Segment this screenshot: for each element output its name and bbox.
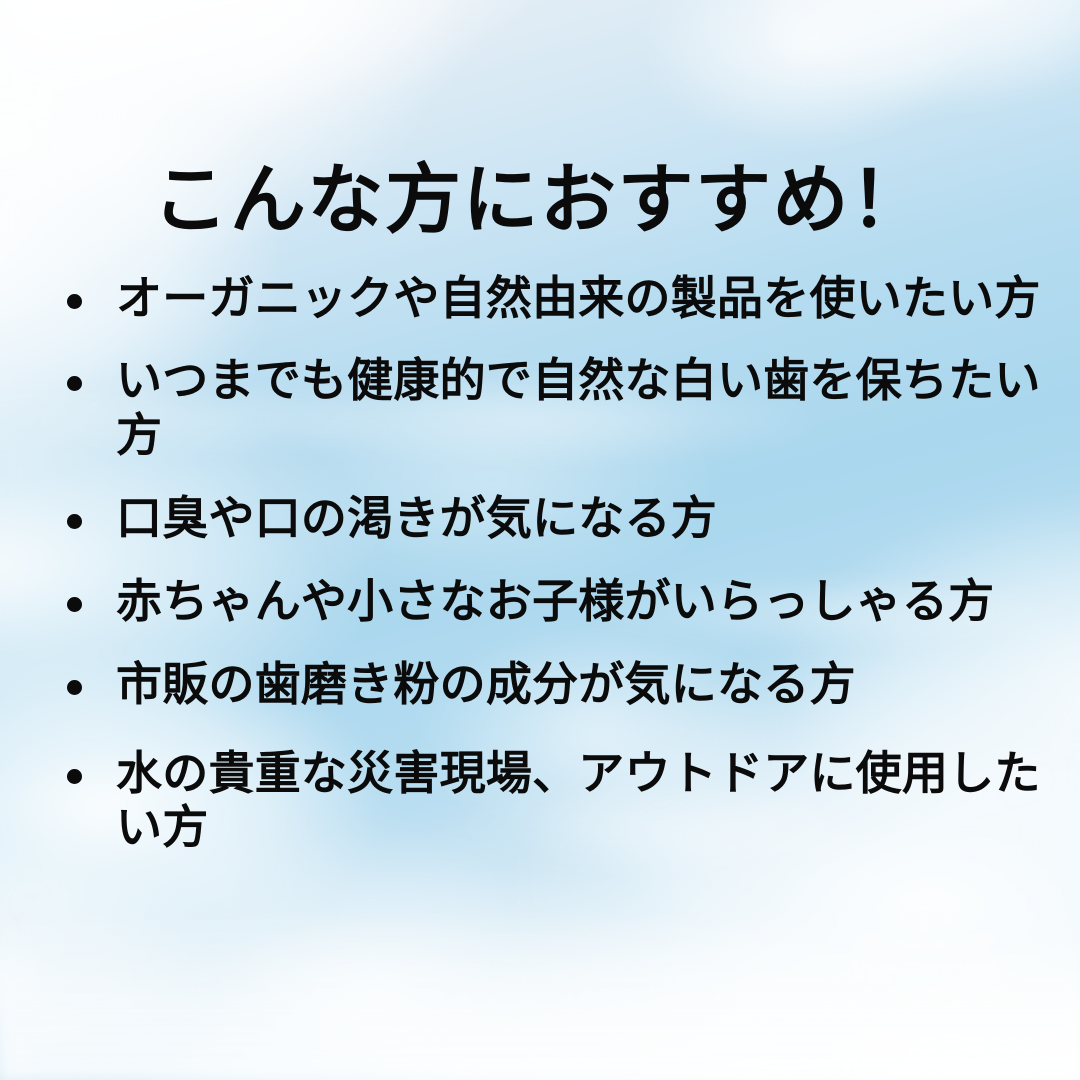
bullet-dot-icon [67,294,82,309]
recommendation-list: オーガニックや自然由来の製品を使いたい方 いつまでも健康的で自然な白い歯を保ちた… [62,272,1058,889]
bullet-dot-icon [67,680,82,695]
promo-poster: こんな方におすすめ！ オーガニックや自然由来の製品を使いたい方 いつまでも健康的… [0,0,1080,1080]
list-item-label: 水の貴重な災害現場、アウトドアに使用したい方 [116,747,1058,856]
list-item-label: 赤ちゃんや小さなお子様がいらっしゃる方 [116,575,1058,629]
poster-content: こんな方におすすめ！ オーガニックや自然由来の製品を使いたい方 いつまでも健康的… [0,0,1080,1080]
list-item: いつまでも健康的で自然な白い歯を保ちたい方 [62,354,1058,463]
bullet-dot-icon [67,769,82,784]
page-title: こんな方におすすめ！ [0,163,1080,239]
list-item: 赤ちゃんや小さなお子様がいらっしゃる方 [62,575,1058,629]
list-item: 口臭や口の渇きが気になる方 [62,492,1058,546]
bullet-dot-icon [67,597,82,612]
list-item-label: オーガニックや自然由来の製品を使いたい方 [116,272,1058,326]
list-item-label: 口臭や口の渇きが気になる方 [116,492,1058,546]
list-item-label: いつまでも健康的で自然な白い歯を保ちたい方 [116,354,1058,463]
list-item: 市販の歯磨き粉の成分が気になる方 [62,658,1058,712]
list-item: オーガニックや自然由来の製品を使いたい方 [62,272,1058,326]
bullet-dot-icon [67,514,82,529]
list-item-label: 市販の歯磨き粉の成分が気になる方 [116,658,1058,712]
list-item: 水の貴重な災害現場、アウトドアに使用したい方 [62,747,1058,856]
bullet-dot-icon [67,376,82,391]
